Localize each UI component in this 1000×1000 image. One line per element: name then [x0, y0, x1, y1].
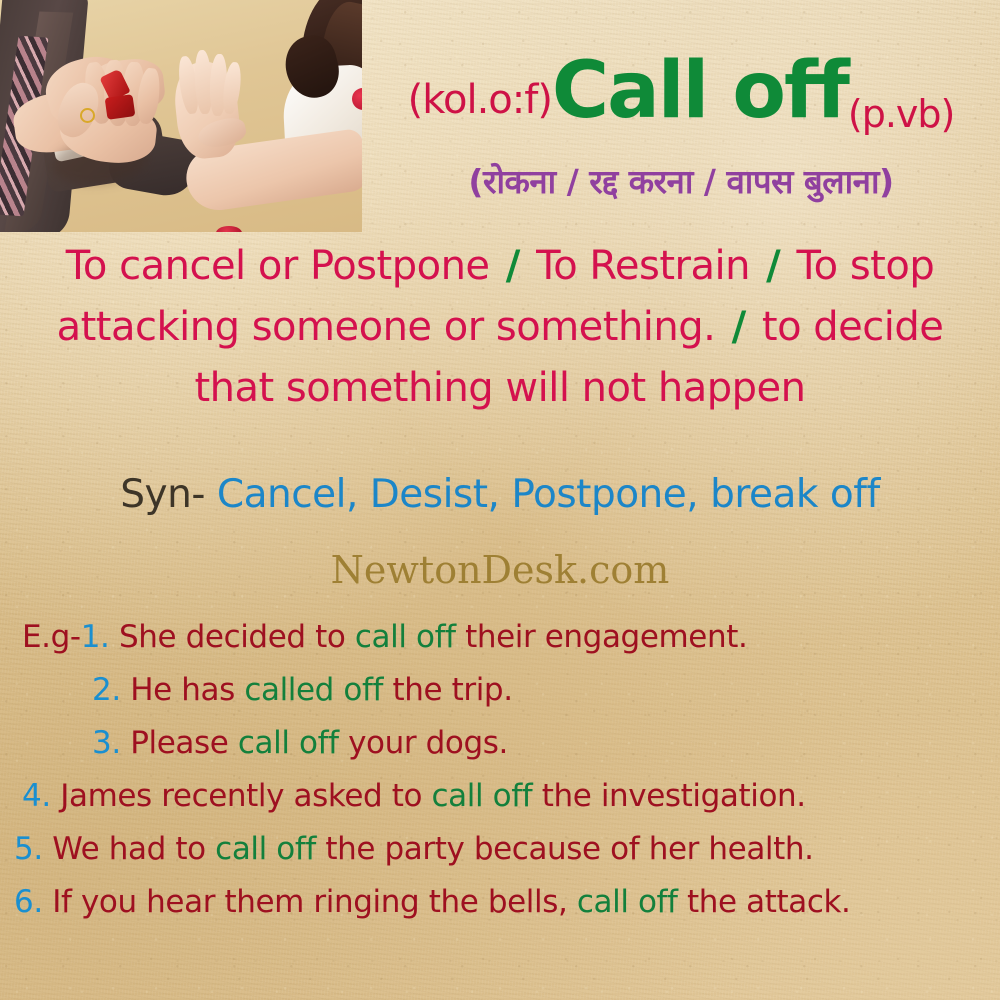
example-highlight: call off: [355, 619, 456, 655]
examples-label: E.g-: [22, 619, 81, 655]
example-sentence-6: 6. If you hear them ringing the bells, c…: [8, 887, 992, 918]
example-number: 3.: [92, 725, 121, 761]
example-text-pre: He has: [130, 672, 244, 708]
example-text-pre: Please: [130, 725, 238, 761]
example-sentence-5: 5. We had to call off the party because …: [8, 834, 992, 865]
example-number: 5.: [14, 831, 43, 867]
definition-separator: /: [502, 243, 524, 289]
example-highlight: call off: [215, 831, 316, 867]
example-highlight: call off: [577, 884, 678, 920]
example-sentence-1: E.g-1. She decided to call off their eng…: [8, 622, 992, 653]
example-number: 2.: [92, 672, 121, 708]
ring-box-base-icon: [105, 94, 136, 120]
rose-petal-icon: [216, 226, 242, 232]
definition-separator: /: [728, 304, 750, 350]
example-number: 1.: [81, 619, 110, 655]
gold-ring-icon: [80, 108, 95, 123]
example-number: 6.: [14, 884, 43, 920]
example-highlight: called off: [244, 672, 383, 708]
synonyms-label: Syn-: [120, 472, 205, 517]
synonyms-block: Syn- Cancel, Desist, Postpone, break off: [16, 472, 984, 517]
definition-separator: /: [762, 243, 784, 289]
headline: (kol.o:f)Call off(p.vb): [366, 46, 996, 136]
hindi-meaning: (रोकना / रद्द करना / वापस बुलाना): [366, 158, 996, 203]
example-text-post: your dogs.: [339, 725, 508, 761]
definition-part-2: To Restrain: [536, 243, 750, 289]
example-text-post: the party because of her health.: [316, 831, 814, 867]
example-text-post: their engagement.: [456, 619, 748, 655]
site-watermark: NewtonDesk.com: [0, 548, 1000, 592]
phonetic-transcription: (kol.o:f): [408, 77, 552, 123]
example-highlight: call off: [432, 778, 533, 814]
examples-block: E.g-1. She decided to call off their eng…: [8, 622, 992, 918]
illustration-photo: [0, 0, 362, 232]
example-text-post: the trip.: [383, 672, 513, 708]
example-text-post: the attack.: [678, 884, 851, 920]
example-sentence-4: 4. James recently asked to call off the …: [8, 781, 992, 812]
example-text-pre: If you hear them ringing the bells,: [52, 884, 577, 920]
vocabulary-card: (kol.o:f)Call off(p.vb) (रोकना / रद्द कर…: [0, 0, 1000, 1000]
page-title: Call off: [552, 46, 848, 136]
synonyms-list: Cancel, Desist, Postpone, break off: [217, 472, 880, 517]
part-of-speech: (p.vb): [848, 92, 954, 136]
example-highlight: call off: [238, 725, 339, 761]
example-sentence-3: 3. Please call off your dogs.: [8, 728, 992, 759]
example-text-post: the investigation.: [532, 778, 806, 814]
example-text-pre: James recently asked to: [60, 778, 431, 814]
definition-part-1: To cancel or Postpone: [66, 243, 490, 289]
example-text-pre: She decided to: [119, 619, 355, 655]
definition-block: To cancel or Postpone / To Restrain / To…: [16, 236, 984, 418]
example-text-pre: We had to: [52, 831, 215, 867]
example-sentence-2: 2. He has called off the trip.: [8, 675, 992, 706]
example-number: 4.: [22, 778, 51, 814]
